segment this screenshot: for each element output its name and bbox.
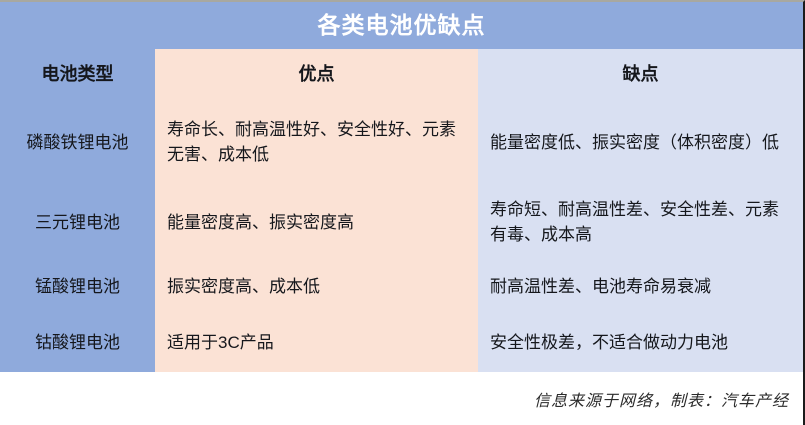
table-row: 能量密度高、振实密度高 xyxy=(155,187,478,259)
table-header-type-label: 电池类型 xyxy=(6,61,149,87)
table-row: 振实密度高、成本低 xyxy=(155,259,478,315)
battery-comparison-table: 电池类型 优点 缺点 磷酸铁锂电池 寿命长、耐高温性好、安全性好、元素无害、成本… xyxy=(0,49,803,372)
battery-cons-text: 安全性极差，不适合做动力电池 xyxy=(490,331,791,356)
footer-credit-bar: 信息来源于网络，制表：汽车产经 xyxy=(0,372,803,425)
battery-type-label: 三元锂电池 xyxy=(6,211,149,236)
table-header-pros-label: 优点 xyxy=(167,61,466,87)
table-row: 寿命长、耐高温性好、安全性好、元素无害、成本低 xyxy=(155,99,478,187)
battery-type-label: 磷酸铁锂电池 xyxy=(6,131,149,156)
battery-pros-text: 振实密度高、成本低 xyxy=(167,275,466,300)
page-title: 各类电池优缺点 xyxy=(318,14,486,37)
battery-type-label: 锰酸锂电池 xyxy=(6,275,149,300)
table-row: 适用于3C产品 xyxy=(155,315,478,372)
battery-cons-text: 能量密度低、振实密度（体积密度）低 xyxy=(490,131,791,156)
table-header-type: 电池类型 xyxy=(0,49,155,99)
table-row: 安全性极差，不适合做动力电池 xyxy=(478,315,803,372)
table-row: 寿命短、耐高温性差、安全性差、元素有毒、成本高 xyxy=(478,187,803,259)
table-header-cons-label: 缺点 xyxy=(490,61,791,87)
battery-pros-text: 寿命长、耐高温性好、安全性好、元素无害、成本低 xyxy=(167,118,466,167)
infographic-table-page: 各类电池优缺点 电池类型 优点 缺点 磷酸铁锂电池 寿命长、耐高温性好、安全性好… xyxy=(0,0,805,425)
table-row: 钴酸锂电池 xyxy=(0,315,155,372)
source-credit: 信息来源于网络，制表：汽车产经 xyxy=(534,387,789,411)
battery-pros-text: 适用于3C产品 xyxy=(167,331,466,356)
table-row: 磷酸铁锂电池 xyxy=(0,99,155,187)
table-row: 锰酸锂电池 xyxy=(0,259,155,315)
battery-cons-text: 寿命短、耐高温性差、安全性差、元素有毒、成本高 xyxy=(490,198,791,247)
table-header-cons: 缺点 xyxy=(478,49,803,99)
table-header-pros: 优点 xyxy=(155,49,478,99)
table-row: 耐高温性差、电池寿命易衰减 xyxy=(478,259,803,315)
battery-type-label: 钴酸锂电池 xyxy=(6,331,149,356)
title-banner: 各类电池优缺点 xyxy=(0,2,803,49)
battery-cons-text: 耐高温性差、电池寿命易衰减 xyxy=(490,275,791,300)
table-row: 能量密度低、振实密度（体积密度）低 xyxy=(478,99,803,187)
battery-pros-text: 能量密度高、振实密度高 xyxy=(167,211,466,236)
table-row: 三元锂电池 xyxy=(0,187,155,259)
